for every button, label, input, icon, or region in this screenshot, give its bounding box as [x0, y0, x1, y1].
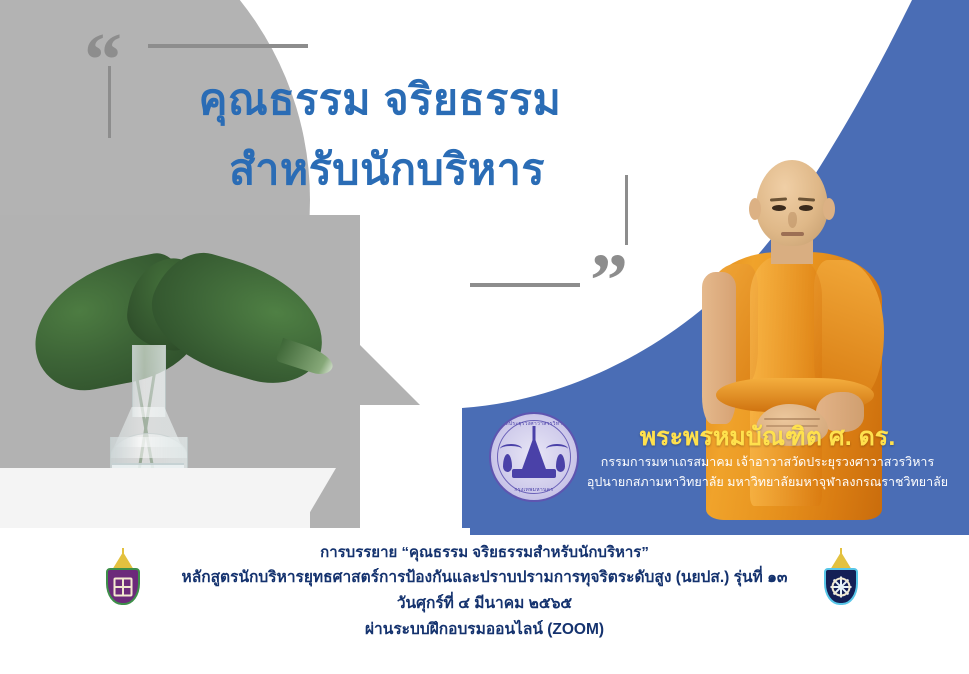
title-line-1: คุณธรรม จริยธรรม — [120, 66, 640, 136]
monk-mouth — [781, 232, 804, 236]
speaker-name: พระพรหมบัณฑิต ศ. ดร. — [587, 422, 948, 453]
temple-seal-icon: วัดประยุรวงศาวาสวรวิหาร กรุงเทพมหานคร — [489, 412, 579, 502]
seal-leaf-left — [503, 454, 512, 472]
presentation-slide: “ ” คุณธรรม จริยธรรม สำหรับนักบริหาร วัด… — [0, 0, 969, 674]
monk-nose — [788, 212, 797, 228]
open-quote-icon: “ — [84, 22, 122, 98]
speaker-texts: พระพรหมบัณฑิต ศ. ดร. กรรมการมหาเถรสมาคม … — [587, 422, 948, 492]
speaker-subtitle-2: อุปนายกสภามหาวิทยาลัย มหาวิทยาลัยมหาจุฬา… — [587, 473, 948, 492]
slide-title: คุณธรรม จริยธรรม สำหรับนักบริหาร — [120, 66, 640, 205]
seal-leaf-right — [556, 454, 565, 472]
seal-bottom-text: กรุงเทพมหานคร — [491, 486, 577, 494]
footer-line-4: ผ่านระบบฝึกอบรมออนไลน์ (ZOOM) — [0, 617, 969, 643]
seal-base — [512, 469, 556, 478]
speaker-credit-block: วัดประยุรวงศาวาสวรวิหาร กรุงเทพมหานคร พร… — [462, 412, 969, 502]
decorative-rule-top — [148, 44, 308, 48]
white-table-surface — [0, 468, 310, 536]
emblem-left-center-mark — [114, 577, 133, 596]
monk-eye-right — [799, 205, 813, 211]
seal-wing-left — [500, 444, 522, 454]
mcu-university-emblem-icon — [104, 552, 142, 604]
emblem-right-center-mark — [832, 577, 851, 596]
monk-eye-left — [772, 205, 786, 211]
seal-wing-right — [546, 444, 568, 454]
monk-ear-left — [749, 198, 761, 220]
close-quote-icon: ” — [590, 243, 628, 319]
emblem-left-shield — [106, 568, 140, 605]
emblem-right-shield — [824, 568, 858, 605]
monk-ear-right — [823, 198, 835, 220]
nacc-emblem-icon — [822, 552, 860, 604]
speaker-subtitle-1: กรรมการมหาเถรสมาคม เจ้าอาวาสวัดประยุรวงศ… — [587, 453, 948, 472]
seal-chedi-icon — [521, 436, 547, 472]
vase-neck — [132, 345, 166, 417]
title-line-2: สำหรับนักบริหาร — [120, 136, 640, 206]
decorative-rule-bottom — [470, 283, 580, 287]
speaker-row: วัดประยุรวงศาวาสวรวิหาร กรุงเทพมหานคร พร… — [462, 412, 969, 502]
